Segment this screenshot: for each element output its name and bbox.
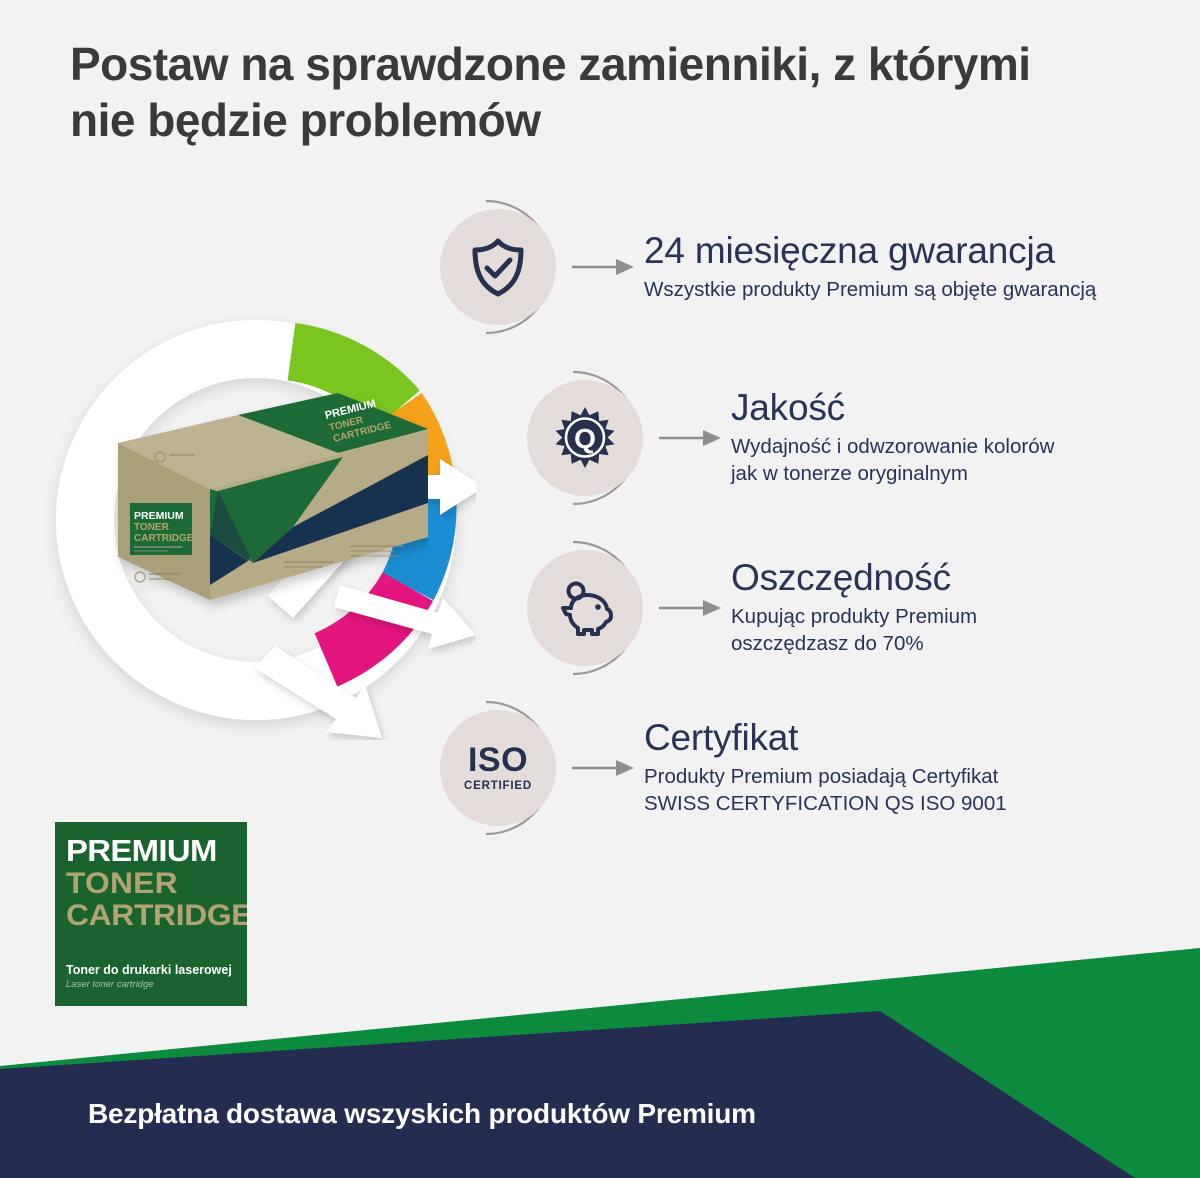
feature-pointer-arrow bbox=[659, 426, 723, 450]
iso-main-text: ISO bbox=[464, 743, 532, 777]
logo-line-toner: TONER bbox=[66, 869, 178, 899]
feature-icon-circle bbox=[440, 209, 556, 325]
feature-description: Wydajność i odwzorowanie kolorów jak w t… bbox=[731, 433, 1175, 488]
box-label-cartridge: CARTRIDGE bbox=[134, 533, 194, 544]
feature-icon-circle: Q bbox=[527, 380, 643, 496]
feature-icon-area bbox=[428, 197, 568, 337]
feature-icon-area bbox=[515, 538, 655, 678]
feature-description: Wszystkie produkty Premium są objęte gwa… bbox=[644, 276, 1173, 303]
piggy-bank-icon bbox=[553, 576, 617, 640]
feature-text-block: Jakość Wydajność i odwzorowanie kolorów … bbox=[731, 388, 1175, 487]
feature-row-savings: Oszczędność Kupując produkty Premium osz… bbox=[515, 538, 1175, 678]
feature-pointer-arrow bbox=[572, 255, 636, 279]
feature-title: Certyfikat bbox=[644, 718, 1173, 759]
infographic-canvas: Postaw na sprawdzone zamienniki, z który… bbox=[0, 0, 1200, 1178]
feature-row-warranty: 24 miesięczna gwarancja Wszystkie produk… bbox=[428, 197, 1173, 337]
feature-icon-circle bbox=[527, 550, 643, 666]
quality-seal-icon: Q bbox=[553, 406, 617, 470]
page-title: Postaw na sprawdzone zamienniki, z który… bbox=[70, 36, 1140, 148]
feature-title: Jakość bbox=[731, 388, 1175, 429]
feature-icon-circle: ISO CERTIFIED bbox=[440, 710, 556, 826]
feature-title: Oszczędność bbox=[731, 558, 1175, 599]
feature-text-block: 24 miesięczna gwarancja Wszystkie produk… bbox=[644, 231, 1173, 303]
feature-text-block: Certyfikat Produkty Premium posiadają Ce… bbox=[644, 718, 1173, 817]
box-label-toner: TONER bbox=[134, 522, 170, 533]
shield-check-icon bbox=[466, 235, 530, 299]
iso-sub-text: CERTIFIED bbox=[464, 781, 532, 793]
feature-title: 24 miesięczna gwarancja bbox=[644, 231, 1173, 272]
footer-banner-shapes bbox=[0, 948, 1200, 1178]
box-label-premium: PREMIUM bbox=[134, 510, 184, 522]
feature-row-quality: Q Jakość Wydajność i odwzorowanie koloró… bbox=[515, 368, 1175, 508]
feature-icon-area: Q bbox=[515, 368, 655, 508]
feature-row-certificate: ISO CERTIFIED Certyfikat Produkty Premiu… bbox=[428, 698, 1173, 838]
footer-text: Bezpłatna dostawa wszyskich produktów Pr… bbox=[88, 1098, 756, 1130]
iso-certified-icon: ISO CERTIFIED bbox=[464, 743, 532, 793]
feature-text-block: Oszczędność Kupując produkty Premium osz… bbox=[731, 558, 1175, 657]
feature-description: Kupując produkty Premium oszczędzasz do … bbox=[731, 603, 1175, 658]
toner-box-image: PREMIUM TONER CARTRIDGE PREMIUM TONER CA… bbox=[88, 385, 428, 625]
svg-text:Q: Q bbox=[574, 423, 596, 454]
feature-description: Produkty Premium posiadają Certyfikat SW… bbox=[644, 763, 1173, 818]
feature-icon-area: ISO CERTIFIED bbox=[428, 698, 568, 838]
logo-line-premium: PREMIUM bbox=[66, 835, 217, 866]
logo-line-cartridge: CARTRIDGE bbox=[66, 901, 247, 931]
feature-pointer-arrow bbox=[572, 756, 636, 780]
feature-pointer-arrow bbox=[659, 596, 723, 620]
